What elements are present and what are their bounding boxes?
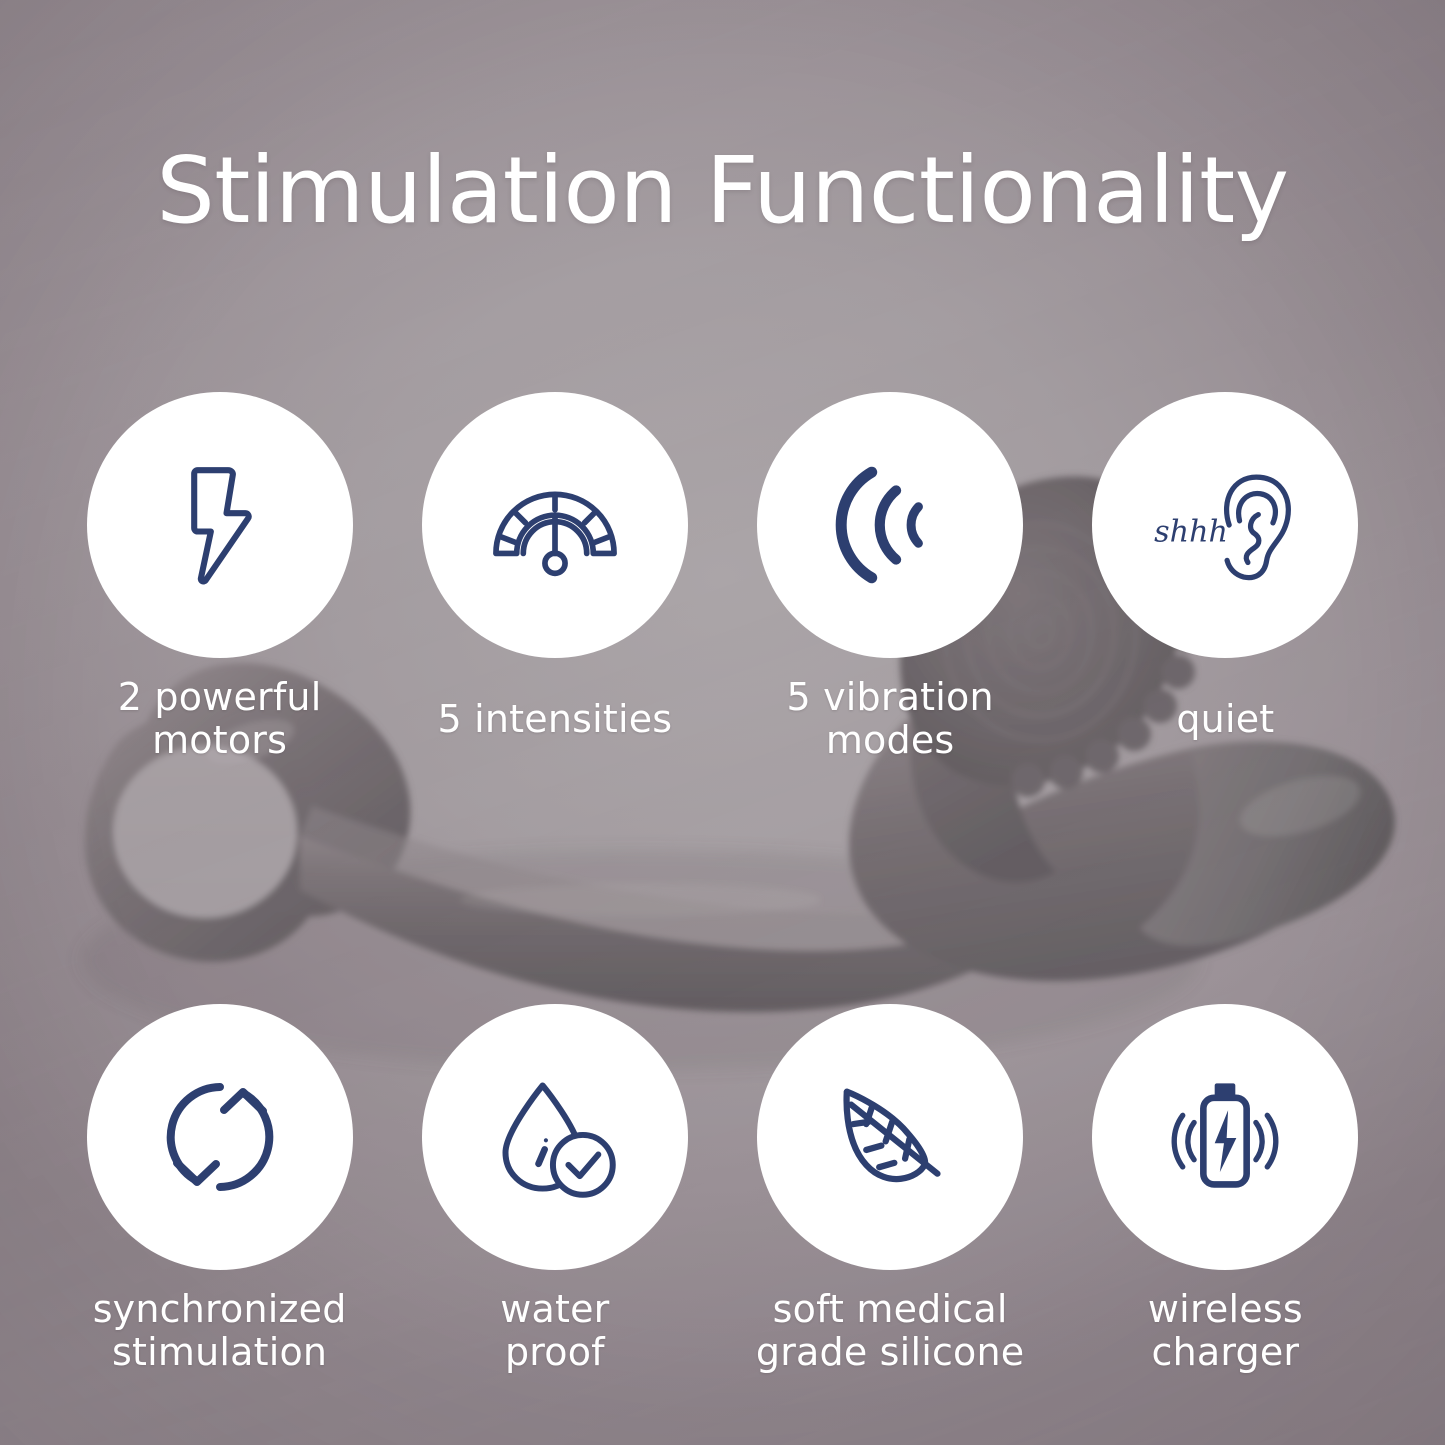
feature-item-synchronized-stimulation[interactable]: synchronized stimulation bbox=[52, 1004, 387, 1374]
feature-item-vibration-modes[interactable]: 5 vibration modes bbox=[723, 392, 1058, 762]
feature-badge: shhh bbox=[1092, 392, 1358, 658]
feature-grid: 2 powerful motors bbox=[52, 392, 1393, 1374]
feature-badge bbox=[757, 1004, 1023, 1270]
feature-label: synchronized stimulation bbox=[93, 1288, 347, 1374]
feature-label: 2 powerful motors bbox=[118, 676, 322, 762]
feature-badge bbox=[87, 392, 353, 658]
vibration-waves-icon bbox=[825, 460, 955, 590]
feature-badge bbox=[87, 1004, 353, 1270]
feature-item-waterproof[interactable]: water proof bbox=[387, 1004, 722, 1374]
feature-item-medical-silicone[interactable]: soft medical grade silicone bbox=[723, 1004, 1058, 1374]
feature-label: quiet bbox=[1176, 698, 1274, 741]
feather-icon bbox=[821, 1068, 959, 1206]
lightning-bolt-icon bbox=[155, 460, 285, 590]
infographic-canvas: Stimulation Functionality 2 powerful mot… bbox=[0, 0, 1445, 1445]
feature-item-intensities[interactable]: 5 intensities bbox=[387, 392, 722, 762]
feature-label: 5 intensities bbox=[437, 698, 672, 741]
feature-label: soft medical grade silicone bbox=[756, 1288, 1025, 1374]
feature-item-wireless-charger[interactable]: wireless charger bbox=[1058, 1004, 1393, 1374]
feature-label: water proof bbox=[500, 1288, 609, 1374]
shhh-text: shhh bbox=[1155, 515, 1229, 550]
water-drop-check-icon bbox=[489, 1071, 621, 1203]
sync-arrows-icon bbox=[156, 1073, 284, 1201]
feature-badge bbox=[757, 392, 1023, 658]
feature-item-powerful-motors[interactable]: 2 powerful motors bbox=[52, 392, 387, 762]
feature-item-quiet[interactable]: shhh quiet bbox=[1058, 392, 1393, 762]
gauge-icon bbox=[485, 455, 625, 595]
page-title: Stimulation Functionality bbox=[0, 137, 1445, 244]
feature-badge bbox=[422, 392, 688, 658]
feature-label: wireless charger bbox=[1148, 1288, 1303, 1374]
feature-badge bbox=[422, 1004, 688, 1270]
wireless-charging-battery-icon bbox=[1159, 1071, 1291, 1203]
ear-shhh-icon: shhh bbox=[1150, 450, 1300, 600]
feature-label: 5 vibration modes bbox=[786, 676, 993, 762]
feature-badge bbox=[1092, 1004, 1358, 1270]
